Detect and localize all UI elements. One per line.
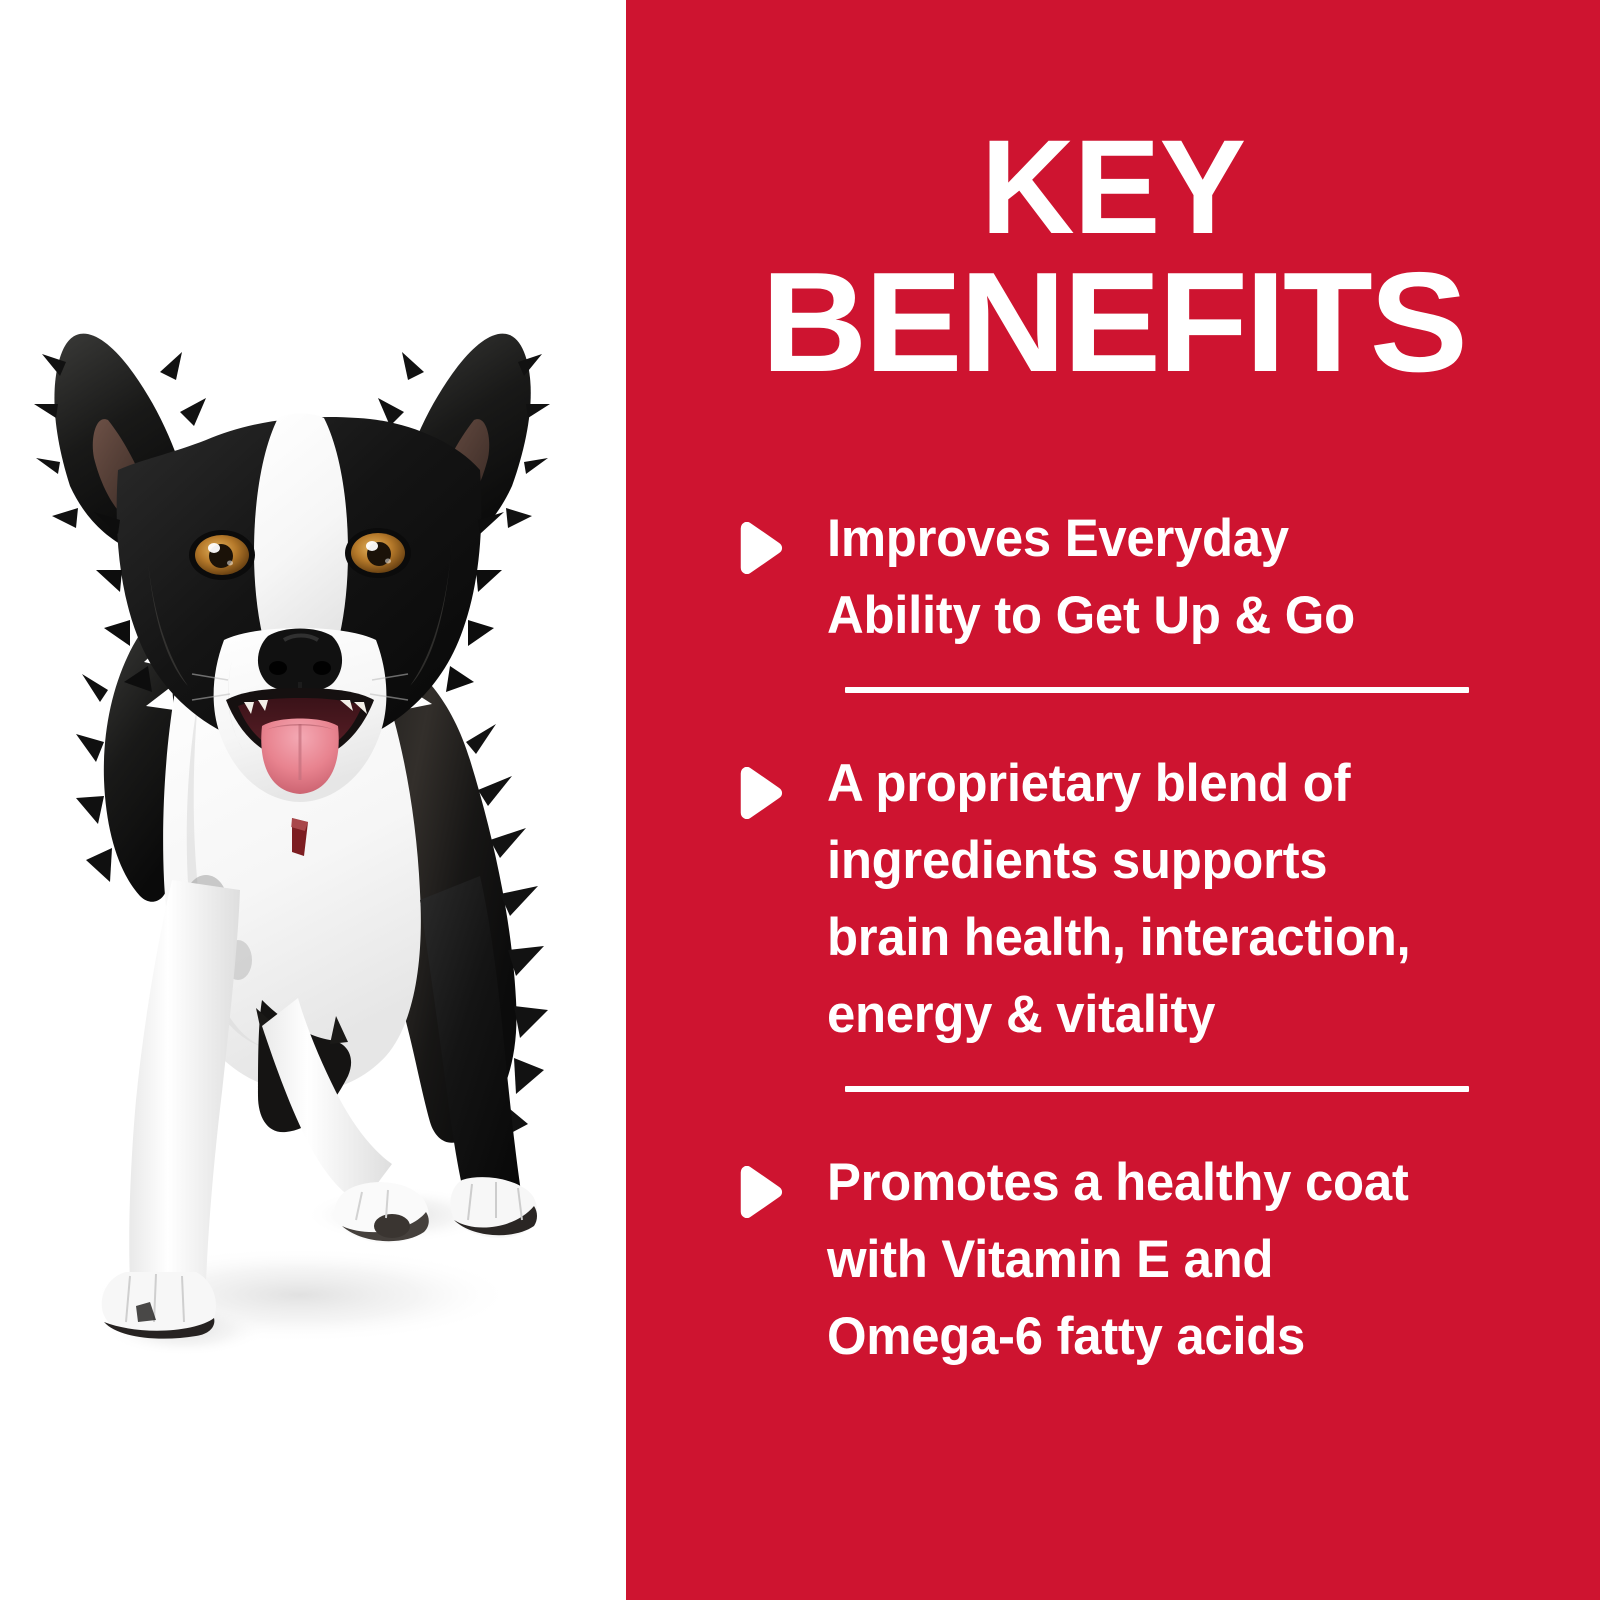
play-triangle-icon [735,767,783,819]
benefit-item-brain-blend: A proprietary blend of ingredients suppo… [626,745,1600,1053]
play-triangle-icon [735,1166,783,1218]
page-title: KEY BENEFITS [641,122,1586,392]
heading-line-key: KEY [641,122,1586,253]
spacer [626,1053,1600,1086]
benefits-list: Improves Everyday Ability to Get Up & Go… [626,500,1600,1375]
spacer [626,693,1600,745]
benefit-item-coat: Promotes a healthy coat with Vitamin E a… [626,1144,1600,1375]
benefit-text: Promotes a healthy coat with Vitamin E a… [827,1144,1409,1375]
play-triangle-icon [735,522,783,574]
spacer [626,654,1600,687]
key-benefits-panel: KEY BENEFITS Improves Everyday Ability t… [0,0,1600,1600]
benefit-text: Improves Everyday Ability to Get Up & Go [827,500,1355,654]
dog-photo-panel [0,0,626,1600]
dog-photo [0,0,626,1600]
spacer [626,1092,1600,1144]
benefit-item-mobility: Improves Everyday Ability to Get Up & Go [626,500,1600,654]
heading-line-benefits: BENEFITS [626,253,1600,392]
benefits-panel: KEY BENEFITS Improves Everyday Ability t… [626,0,1600,1600]
benefit-text: A proprietary blend of ingredients suppo… [827,745,1410,1053]
